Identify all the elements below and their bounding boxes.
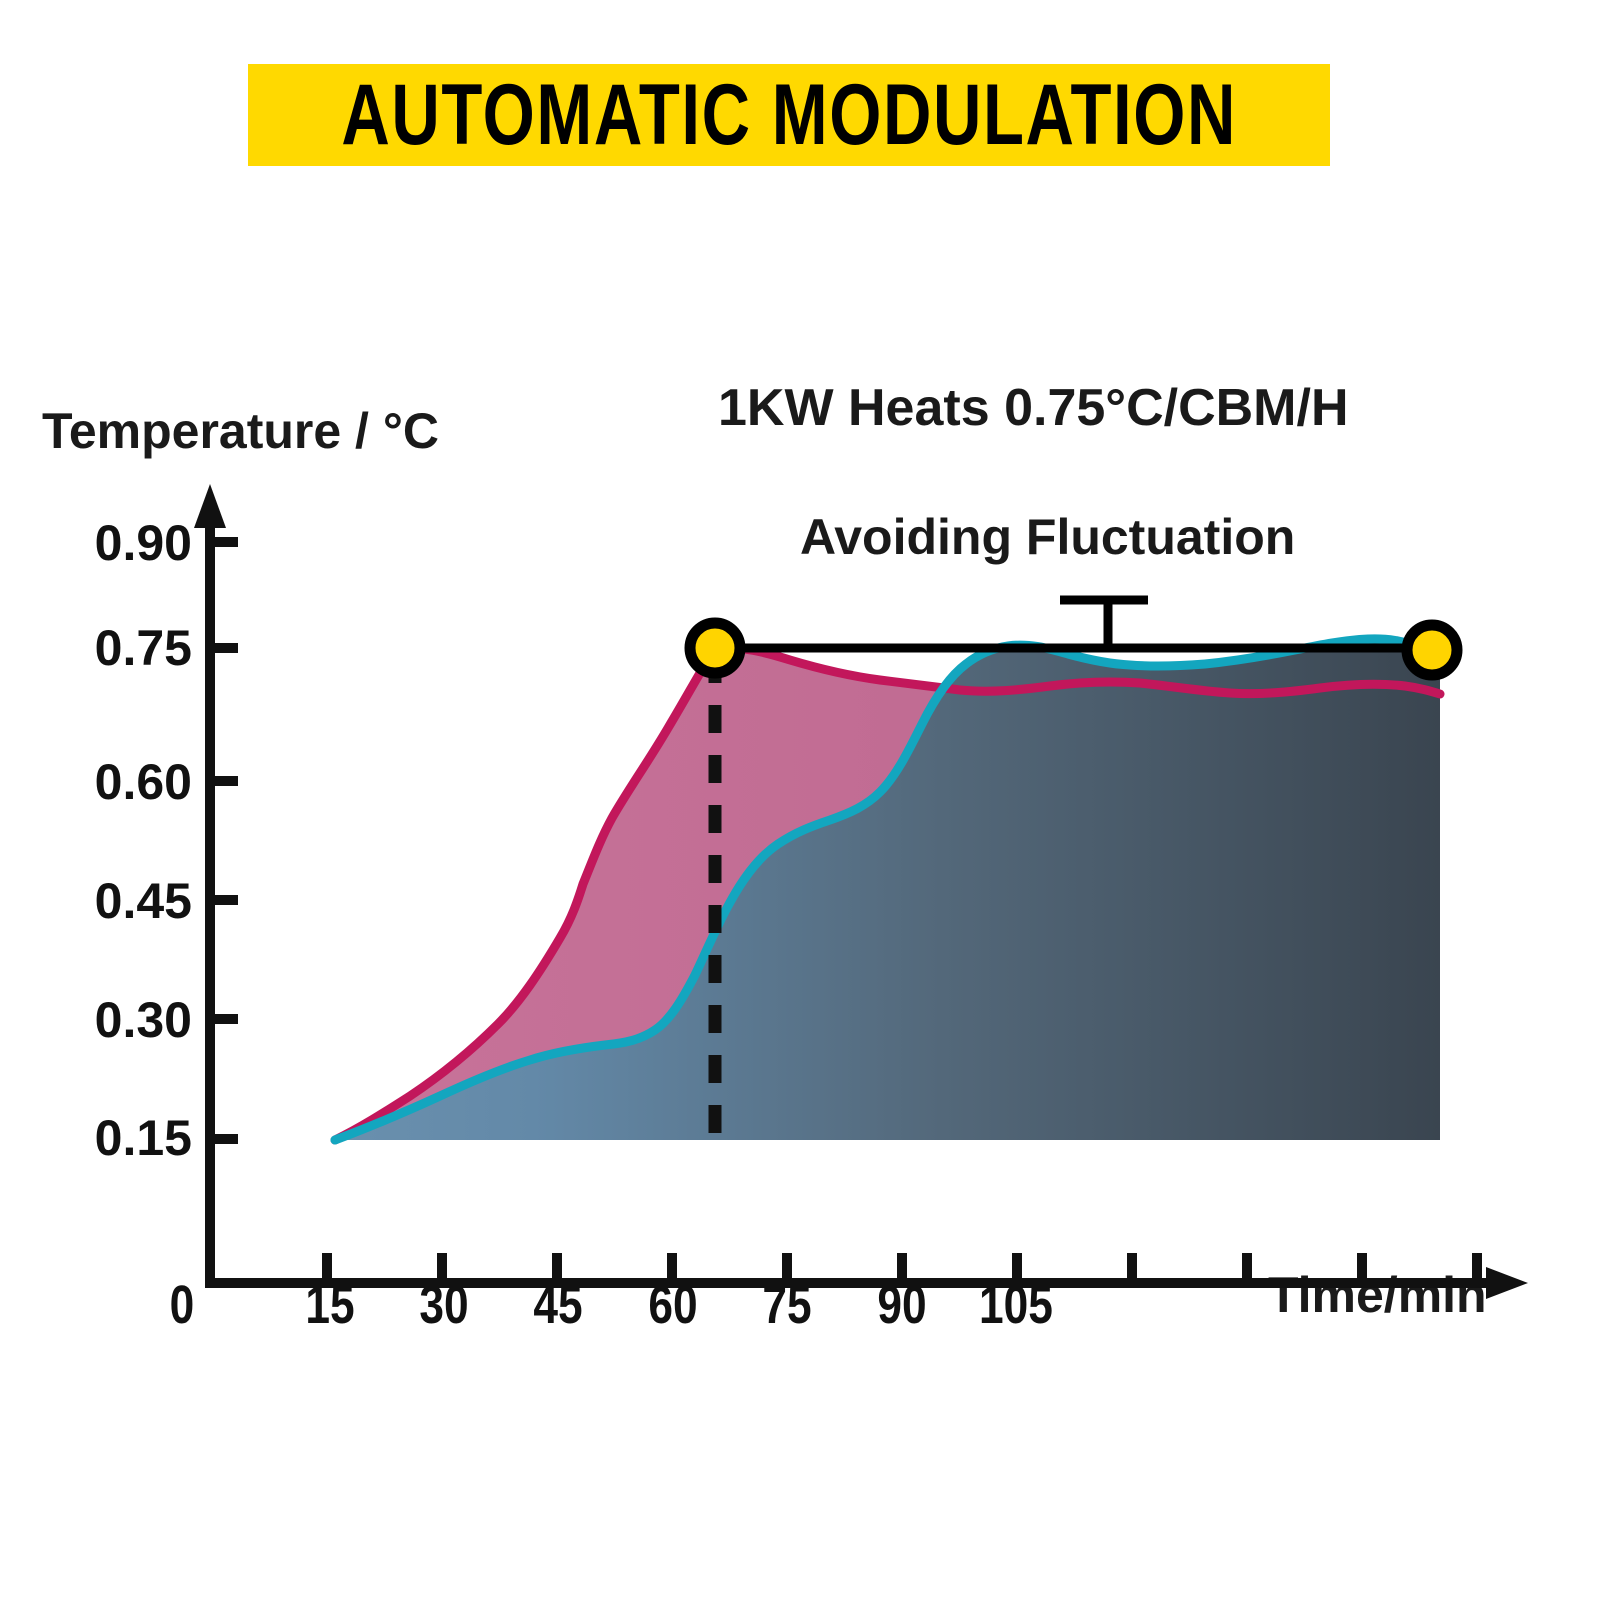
setpoint-marker-start[interactable] [690,623,740,673]
chart-page: AUTOMATIC MODULATION 1KW Heats 0.75°C/CB… [0,0,1600,1600]
fluctuation-indicator [1060,600,1148,650]
x-axis [205,1253,1528,1299]
chart-canvas [0,0,1600,1600]
y-axis [194,484,238,1283]
setpoint-marker-end[interactable] [1407,625,1457,675]
